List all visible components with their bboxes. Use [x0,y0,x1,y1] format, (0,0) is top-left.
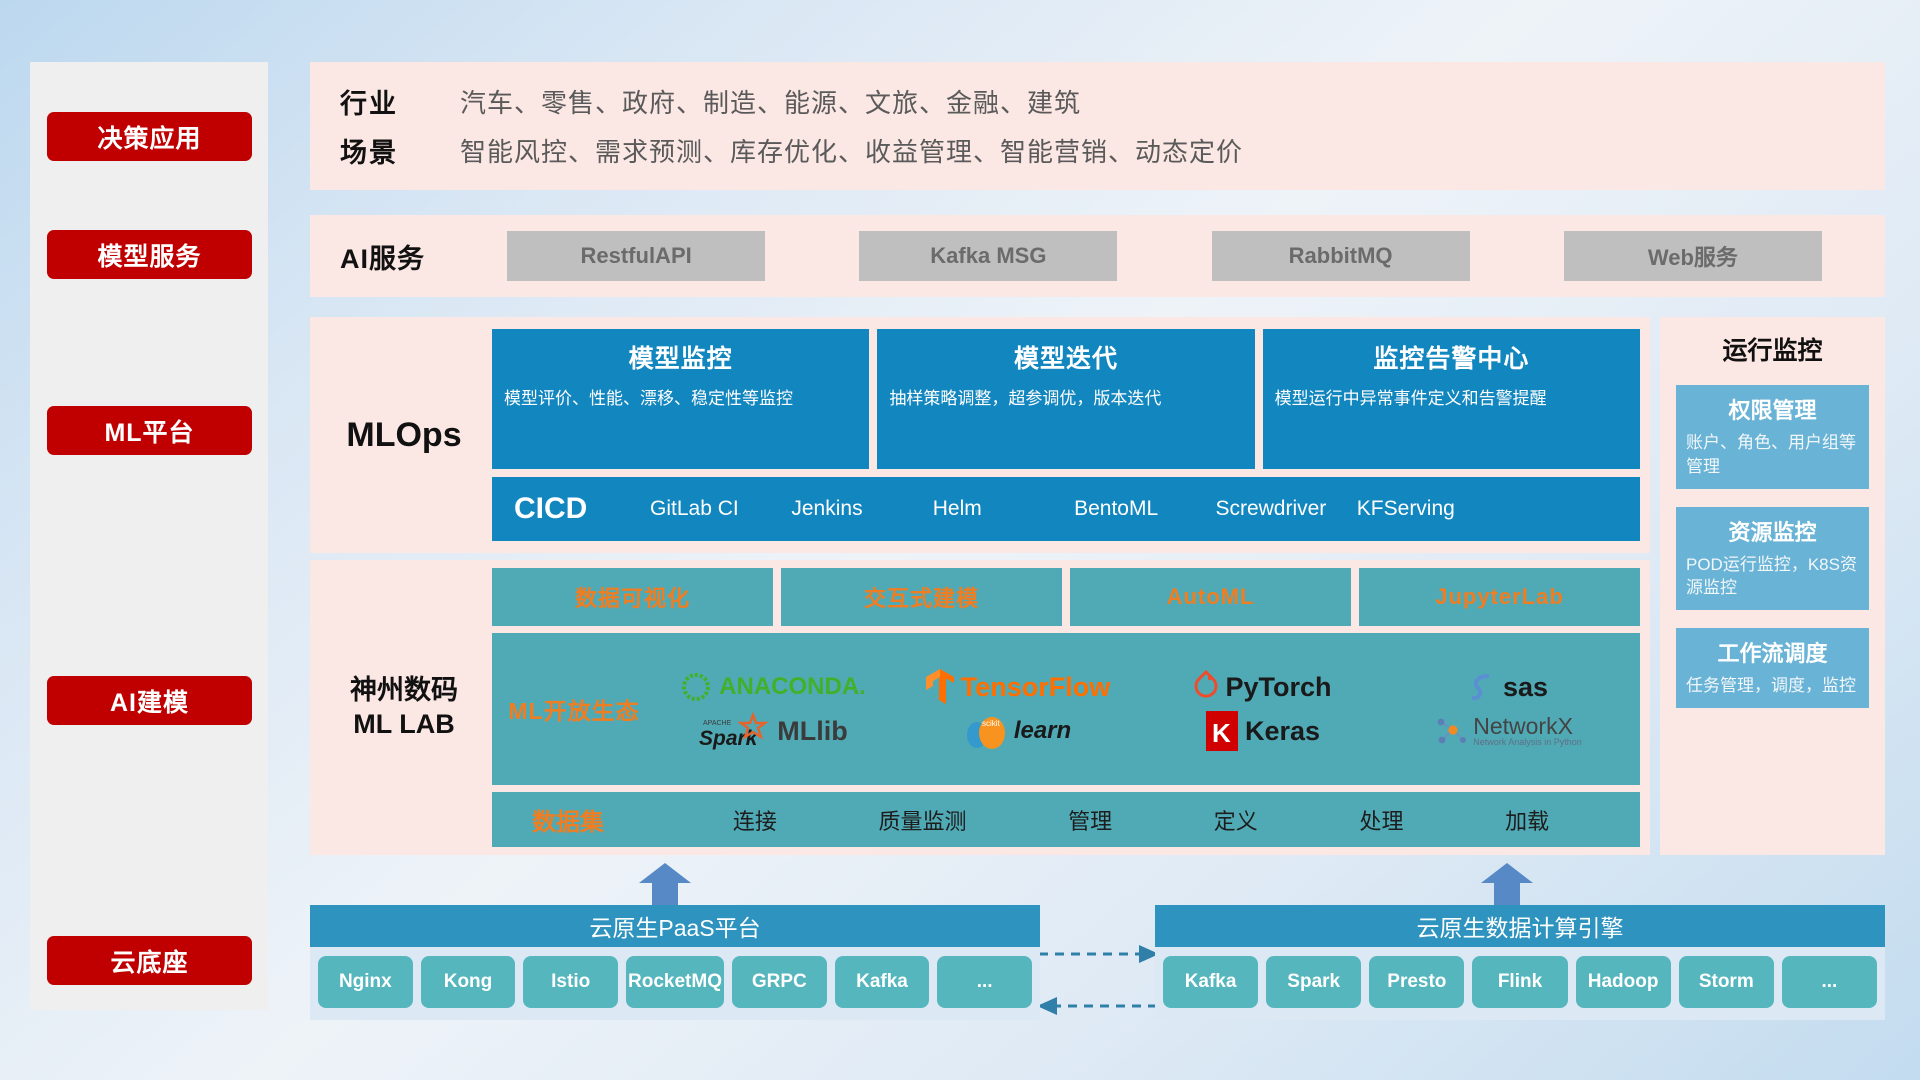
cloud-chip[interactable]: Istio [523,956,618,1008]
monitor-card-title: 资源监控 [1686,515,1859,547]
cloud-chip[interactable]: Kafka [1163,956,1258,1008]
layer-pill-label: 云底座 [110,943,188,979]
dataset-bar: 数据集 连接 质量监测 管理 定义 处理 加载 [492,792,1640,847]
ml-lab-tool-automl[interactable]: AutoML [1070,568,1351,626]
cicd-item-list: GitLab CI Jenkins Helm BentoML Screwdriv… [650,498,1640,520]
mlops-card-title: 模型迭代 [1014,339,1118,375]
sas-mark-icon [1467,671,1497,703]
scikit-learn-mark-icon: scikit [964,709,1008,753]
networkx-logo: NetworkX Network Analysis in Python [1433,714,1582,748]
ml-open-ecosystem-label: ML开放生态 [498,692,650,726]
mlops-card-title: 监控告警中心 [1373,339,1529,375]
up-arrow-icon [638,862,692,906]
svg-text:scikit: scikit [982,719,1001,728]
pytorch-flame-icon [1193,670,1219,704]
monitor-card-desc: POD运行监控，K8S资源监控 [1686,553,1859,601]
cloud-chip[interactable]: Kafka [835,956,930,1008]
mlops-label: MLOps [316,416,492,455]
cicd-item[interactable]: Jenkins [791,498,932,520]
mlops-card-model-monitoring[interactable]: 模型监控 模型评价、性能、漂移、稳定性等监控 [492,329,869,469]
dataset-item[interactable]: 质量监测 [878,804,966,836]
scenario-row: 场景 智能风控、需求预测、库存优化、收益管理、智能营销、动态定价 [340,131,1885,170]
layer-pill-decision-app[interactable]: 决策应用 [47,112,252,161]
keras-logo-text: Keras [1245,716,1320,747]
layer-pill-label: 模型服务 [97,237,201,273]
cloud-chip[interactable]: Spark [1266,956,1361,1008]
ml-lab-label-line2: ML LAB [316,708,492,742]
runtime-monitor-title: 运行监控 [1676,331,1869,367]
cloud-chip[interactable]: RocketMQ [626,956,724,1008]
ml-lab-tool-data-visualization[interactable]: 数据可视化 [492,568,773,626]
cloud-chip[interactable]: Flink [1472,956,1567,1008]
dataset-item[interactable]: 加载 [1505,804,1549,836]
monitor-card-resource[interactable]: 资源监控 POD运行监控，K8S资源监控 [1676,507,1869,611]
anaconda-logo-text: ANACONDA. [719,673,866,701]
svg-text:Spark: Spark [699,727,759,750]
ai-service-chip[interactable]: Web服务 [1564,231,1822,281]
dataset-item-list: 连接 质量监测 管理 定义 处理 加载 [682,804,1640,836]
cloud-chip[interactable]: Presto [1369,956,1464,1008]
dataset-item[interactable]: 处理 [1359,804,1403,836]
mlops-content: 模型监控 模型评价、性能、漂移、稳定性等监控 模型迭代 抽样策略调整，超参调优，… [492,329,1640,541]
dataset-item[interactable]: 管理 [1068,804,1112,836]
layer-rail: 决策应用 模型服务 ML平台 AI建模 云底座 [30,62,268,1010]
ml-lab-tool-interactive-modeling[interactable]: 交互式建模 [781,568,1062,626]
layer-pill-label: 决策应用 [97,119,201,155]
cloud-chip-more[interactable]: ... [937,956,1032,1008]
cloud-chip-more[interactable]: ... [1782,956,1877,1008]
mlops-card-desc: 抽样策略调整，超参调优，版本迭代 [889,387,1242,411]
cicd-item[interactable]: GitLab CI [650,498,791,520]
cloud-data-engine-chip-list: Kafka Spark Presto Flink Hadoop Storm ..… [1155,947,1885,1020]
monitor-card-title: 工作流调度 [1686,636,1859,668]
mlops-band: MLOps 模型监控 模型评价、性能、漂移、稳定性等监控 模型迭代 抽样策略调整… [310,317,1650,553]
anaconda-mark-icon [679,670,713,704]
dataset-item[interactable]: 连接 [733,804,777,836]
scikit-learn-logo-text: learn [1014,717,1071,745]
cloud-chip[interactable]: Hadoop [1576,956,1671,1008]
networkx-logo-tagline: Network Analysis in Python [1473,738,1582,747]
cloud-paas-title: 云原生PaaS平台 [310,905,1040,947]
ai-service-band: AI服务 RestfulAPI Kafka MSG RabbitMQ Web服务 [310,215,1885,297]
ai-service-chip[interactable]: RabbitMQ [1212,231,1470,281]
decision-application-band: 行业 汽车、零售、政府、制造、能源、文旅、金融、建筑 场景 智能风控、需求预测、… [310,62,1885,190]
svg-text:K: K [1212,718,1231,748]
layer-pill-ml-platform[interactable]: ML平台 [47,406,252,455]
scenario-label: 场景 [340,131,460,170]
networkx-graph-icon [1433,714,1467,748]
cloud-data-engine-title: 云原生数据计算引擎 [1155,905,1885,947]
cloud-chip[interactable]: Storm [1679,956,1774,1008]
monitor-card-desc: 账户、角色、用户组等管理 [1686,431,1859,479]
ai-service-chip-list: RestfulAPI Kafka MSG RabbitMQ Web服务 [460,231,1885,281]
monitor-card-desc: 任务管理，调度，监控 [1686,674,1859,698]
cicd-item[interactable]: BentoML [1074,498,1215,520]
anaconda-logo: ANACONDA. [679,670,866,704]
cicd-item[interactable]: KFServing [1357,498,1498,520]
up-arrow-icon [1480,862,1534,906]
ml-lab-label: 神州数码 ML LAB [316,674,492,742]
cicd-title: CICD [514,492,650,526]
pytorch-logo-text: PyTorch [1225,672,1331,703]
bidirectional-connector-icon [1035,938,1161,1022]
monitor-card-workflow[interactable]: 工作流调度 任务管理，调度，监控 [1676,628,1869,708]
layer-pill-model-service[interactable]: 模型服务 [47,230,252,279]
networkx-logo-text-group: NetworkX Network Analysis in Python [1473,714,1582,748]
sas-logo: sas [1467,671,1548,703]
ml-lab-content: 数据可视化 交互式建模 AutoML JupyterLab ML开放生态 ANA… [492,568,1640,847]
cloud-chip[interactable]: Nginx [318,956,413,1008]
dataset-item[interactable]: 定义 [1214,804,1258,836]
layer-pill-label: AI建模 [110,683,189,719]
cicd-bar: CICD GitLab CI Jenkins Helm BentoML Scre… [492,477,1640,541]
keras-mark-icon: K [1205,710,1239,752]
mlops-card-desc: 模型评价、性能、漂移、稳定性等监控 [504,387,857,411]
ai-service-label: AI服务 [340,237,460,276]
monitor-card-permission[interactable]: 权限管理 账户、角色、用户组等管理 [1676,385,1869,489]
ml-lab-label-line1: 神州数码 [316,674,492,708]
cloud-chip[interactable]: GRPC [732,956,827,1008]
sas-logo-text: sas [1503,672,1548,703]
mlops-card-alert-center[interactable]: 监控告警中心 模型运行中异常事件定义和告警提醒 [1263,329,1640,469]
ml-lab-tool-jupyterlab[interactable]: JupyterLab [1359,568,1640,626]
mlops-card-list: 模型监控 模型评价、性能、漂移、稳定性等监控 模型迭代 抽样策略调整，超参调优，… [492,329,1640,469]
cloud-chip[interactable]: Kong [421,956,516,1008]
dataset-title: 数据集 [532,802,682,837]
ai-service-chip[interactable]: Kafka MSG [859,231,1117,281]
cloud-native-data-engine-block: 云原生数据计算引擎 Kafka Spark Presto Flink Hadoo… [1155,905,1885,1020]
ml-open-ecosystem-logo-grid: ANACONDA. TensorFlow PyTorch [650,665,1630,753]
pytorch-logo: PyTorch [1193,670,1331,704]
cicd-item[interactable]: Screwdriver [1215,498,1356,520]
scikit-learn-logo: scikit learn [964,709,1071,753]
mlops-card-desc: 模型运行中异常事件定义和告警提醒 [1275,387,1628,411]
industry-values: 汽车、零售、政府、制造、能源、文旅、金融、建筑 [460,83,1081,120]
runtime-monitor-rail: 运行监控 权限管理 账户、角色、用户组等管理 资源监控 POD运行监控，K8S资… [1660,317,1885,855]
layer-pill-cloud-base[interactable]: 云底座 [47,936,252,985]
layer-pill-ai-modeling[interactable]: AI建模 [47,676,252,725]
monitor-card-title: 权限管理 [1686,393,1859,425]
apache-spark-mark-icon: APACHE Spark [697,711,771,751]
ai-service-chip[interactable]: RestfulAPI [507,231,765,281]
mlops-card-model-iteration[interactable]: 模型迭代 抽样策略调整，超参调优，版本迭代 [877,329,1254,469]
industry-label: 行业 [340,82,460,121]
cloud-native-paas-block: 云原生PaaS平台 Nginx Kong Istio RocketMQ GRPC… [310,905,1040,1020]
svg-text:APACHE: APACHE [703,720,732,727]
ml-open-ecosystem-box: ML开放生态 ANACONDA. TensorFlow [492,633,1640,785]
networkx-logo-text: NetworkX [1473,714,1582,738]
cicd-item[interactable]: Helm [933,498,1074,520]
scenario-values: 智能风控、需求预测、库存优化、收益管理、智能营销、动态定价 [460,132,1243,169]
spark-mllib-logo-text: MLlib [777,716,847,747]
tensorflow-mark-icon [925,668,955,706]
tensorflow-logo: TensorFlow [925,668,1111,706]
mlops-card-title: 模型监控 [629,339,733,375]
keras-logo: K Keras [1205,710,1320,752]
ml-lab-tool-list: 数据可视化 交互式建模 AutoML JupyterLab [492,568,1640,626]
spark-mllib-logo: APACHE Spark MLlib [697,711,847,751]
layer-pill-label: ML平台 [104,413,194,449]
industry-row: 行业 汽车、零售、政府、制造、能源、文旅、金融、建筑 [340,82,1885,121]
cloud-paas-chip-list: Nginx Kong Istio RocketMQ GRPC Kafka ... [310,947,1040,1020]
tensorflow-logo-text: TensorFlow [961,672,1111,703]
ml-lab-band: 神州数码 ML LAB 数据可视化 交互式建模 AutoML JupyterLa… [310,560,1650,855]
